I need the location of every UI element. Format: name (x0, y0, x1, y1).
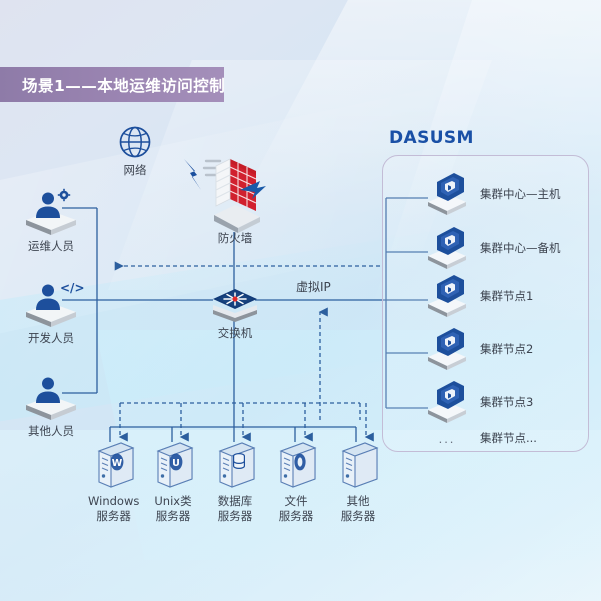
server-label-line2: 服务器 (218, 509, 253, 524)
firewall-icon (200, 155, 270, 233)
server-label-line2: 服务器 (156, 509, 191, 524)
node-firewall[interactable]: 防火墙 (200, 155, 270, 245)
cluster-node-icon (424, 378, 470, 426)
virtual-ip-label: 虚拟IP (296, 278, 331, 295)
cluster-node-icon (424, 272, 470, 320)
firewall-label: 防火墙 (218, 231, 253, 245)
user-other-label: 其他人员 (28, 424, 74, 438)
cluster-node-row[interactable]: 集群节点3 (424, 378, 533, 426)
server-glyph: W (111, 458, 122, 469)
cluster-node-label: 集群中心—主机 (480, 186, 561, 202)
user-other-icon (20, 375, 82, 421)
server-label-line1: 其他 (347, 494, 370, 509)
cluster-node-row[interactable]: 集群节点2 (424, 325, 533, 373)
cluster-node-label: 集群中心—备机 (480, 240, 561, 256)
other-server-icon (335, 441, 381, 491)
cluster-node-row[interactable]: 集群节点1 (424, 272, 533, 320)
file-server-icon (273, 441, 319, 491)
node-switch[interactable]: 交换机 (207, 283, 263, 340)
cluster-node-label: 集群节点1 (480, 288, 533, 304)
cluster-node-icon (424, 325, 470, 373)
user-dev-label: 开发人员 (28, 331, 74, 345)
server-label-line1: 数据库 (218, 494, 253, 509)
cluster-node-row[interactable]: 集群中心—主机 (424, 170, 561, 218)
node-user-ops[interactable]: 运维人员 (20, 190, 82, 253)
ellipsis-icon: ... (424, 431, 470, 446)
windows-server-icon: W (91, 441, 137, 491)
node-server-other[interactable]: 其他 服务器 (335, 441, 381, 524)
cluster-node-label: 集群节点2 (480, 341, 533, 357)
node-user-other[interactable]: 其他人员 (20, 375, 82, 438)
server-label-line1: Unix类 (154, 494, 191, 509)
cluster-node-row-ellipsis[interactable]: ... 集群节点... (424, 430, 537, 446)
user-dev-icon: </> (20, 282, 82, 328)
cluster-node-row[interactable]: 集群中心—备机 (424, 224, 561, 272)
node-user-dev[interactable]: </> 开发人员 (20, 282, 82, 345)
cluster-node-icon (424, 224, 470, 272)
dasusm-title: DASUSM (389, 128, 474, 148)
cluster-node-icon (424, 170, 470, 218)
switch-label: 交换机 (218, 326, 253, 340)
node-server-windows[interactable]: W Windows 服务器 (88, 441, 139, 524)
internet-label: 网络 (124, 163, 147, 177)
globe-icon (118, 125, 152, 159)
cluster-node-label: 集群节点... (480, 430, 537, 446)
database-server-icon (212, 441, 258, 491)
server-label-line1: Windows (88, 494, 139, 509)
server-label-line2: 服务器 (279, 509, 314, 524)
svg-text:</>: </> (60, 281, 85, 295)
unix-server-icon: U (150, 441, 196, 491)
server-label-line2: 服务器 (341, 509, 376, 524)
user-ops-icon (20, 190, 82, 236)
server-glyph: U (172, 458, 180, 469)
server-label-line1: 文件 (285, 494, 308, 509)
server-label-line2: 服务器 (96, 509, 131, 524)
node-server-database[interactable]: 数据库 服务器 (212, 441, 258, 524)
cluster-node-label: 集群节点3 (480, 394, 533, 410)
diagram-canvas: 场景1——本地运维访问控制 (0, 0, 601, 601)
node-server-file[interactable]: 文件 服务器 (273, 441, 319, 524)
switch-icon (207, 283, 263, 323)
node-server-unix[interactable]: U Unix类 服务器 (150, 441, 196, 524)
node-internet[interactable]: 网络 (118, 125, 152, 177)
user-ops-label: 运维人员 (28, 239, 74, 253)
